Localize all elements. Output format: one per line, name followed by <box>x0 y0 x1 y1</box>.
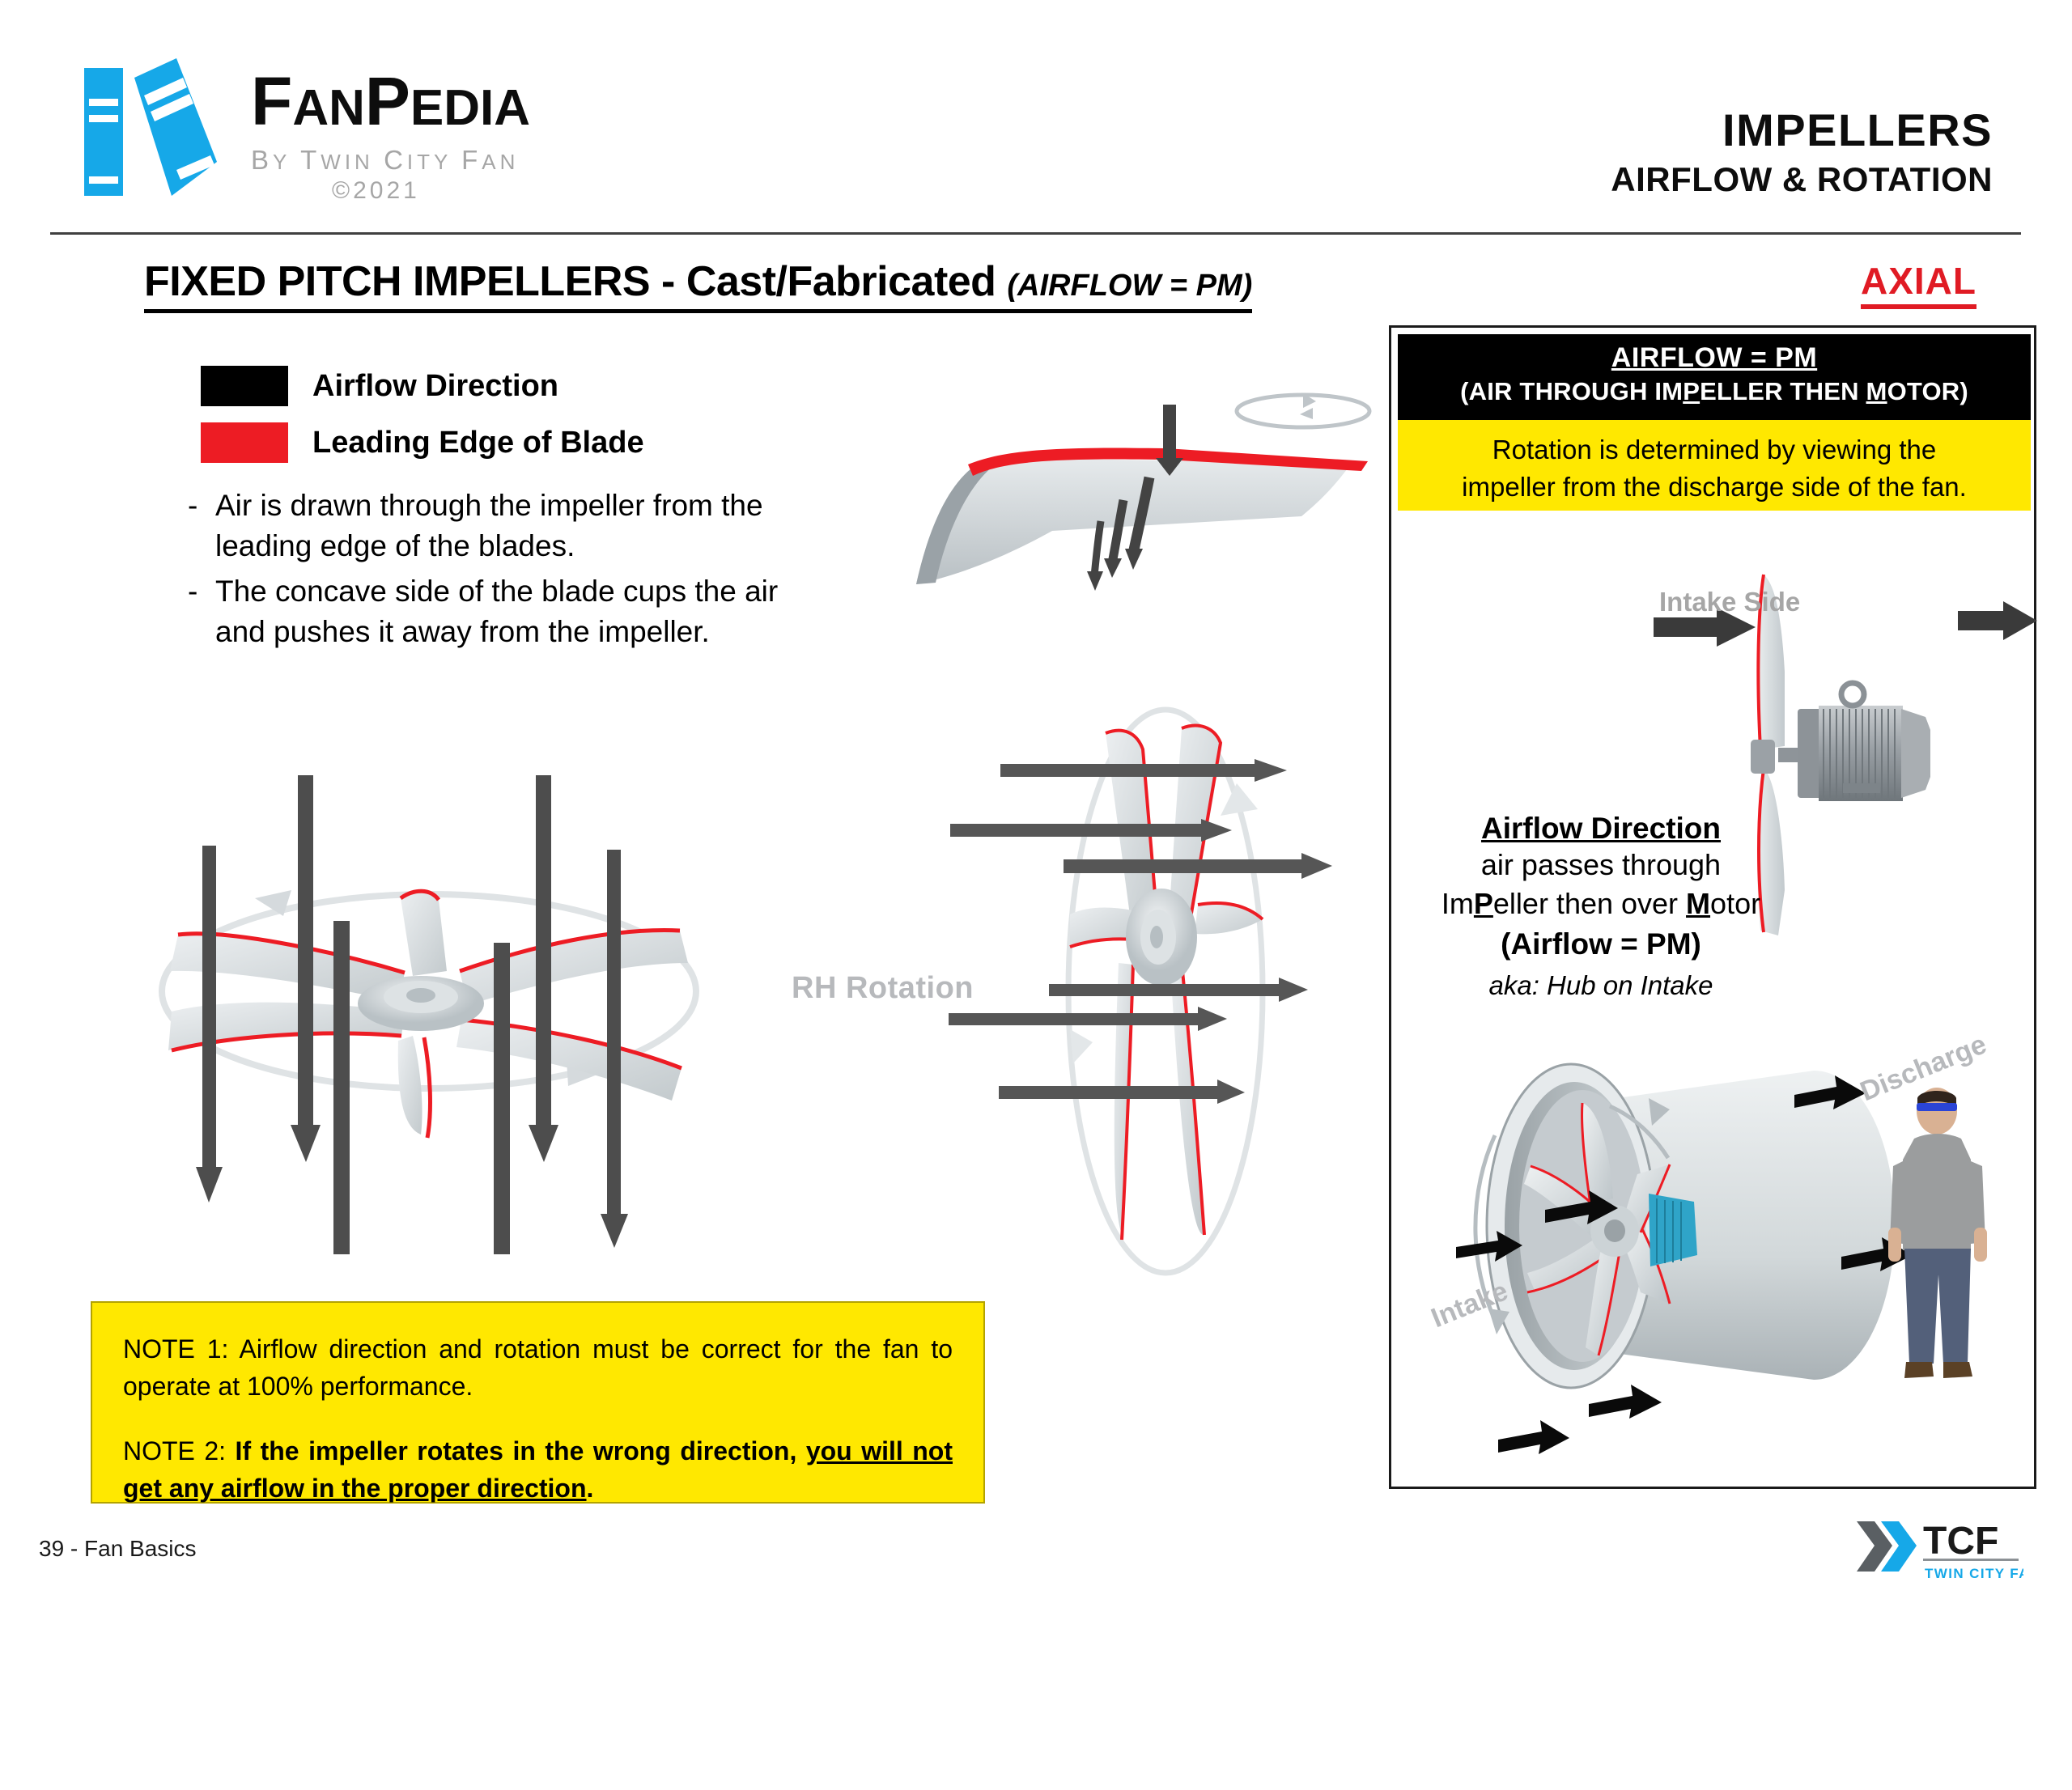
pm-sub-m: M <box>1866 377 1887 405</box>
impeller-top-view-diagram <box>81 769 777 1254</box>
airflow-direction-title: Airflow Direction <box>1427 812 1775 846</box>
pm-sub-a: (AIR THROUGH IM <box>1460 377 1683 405</box>
motor-endbell <box>1901 709 1930 798</box>
note-1: NOTE 1: Airflow direction and rotation m… <box>123 1330 953 1405</box>
page-subtitle: AIRFLOW & ROTATION <box>1611 159 1993 201</box>
pm-sub-c: OTOR) <box>1887 377 1968 405</box>
rotation-rule-yellow-banner: Rotation is determined by viewing the im… <box>1398 420 2031 511</box>
fanpedia-text: FANPEDIA <box>251 66 530 143</box>
page-title: IMPELLERS <box>1611 105 1993 155</box>
bullet-item: - The concave side of the blade cups the… <box>188 571 787 652</box>
person-jeans <box>1904 1249 1971 1364</box>
safety-glasses-icon <box>1917 1103 1957 1111</box>
tag-t: T <box>300 145 321 175</box>
fanpedia-logo: FANPEDIA BY TWIN CITY FAN ©2021 <box>81 57 664 210</box>
ab-m: M <box>1686 887 1710 920</box>
ab-otor: otor <box>1710 887 1760 920</box>
rotation-arrow-right <box>1300 408 1313 419</box>
rh-rotation-label: RH Rotation <box>792 971 974 1006</box>
legend: Airflow Direction Leading Edge of Blade <box>201 366 644 479</box>
rotation-arrow-up <box>1221 783 1258 816</box>
ab-im: Im <box>1441 887 1474 920</box>
rotation-arrow-down <box>1070 1029 1093 1063</box>
person-shoe-right <box>1943 1362 1972 1378</box>
note-2-end: . <box>587 1474 594 1503</box>
pm-sub-b: ELLER THEN <box>1700 377 1866 405</box>
fanpedia-f: F <box>251 63 292 139</box>
page-header: FANPEDIA BY TWIN CITY FAN ©2021 IMPELLER… <box>0 0 2072 235</box>
bullet-dash: - <box>188 486 215 566</box>
fanpedia-tagline: BY TWIN CITY FAN <box>251 145 530 176</box>
airflow-direction-line5: aka: Hub on Intake <box>1427 965 1775 1006</box>
legend-label-airflow: Airflow Direction <box>312 369 558 404</box>
person-shoe-left <box>1904 1362 1934 1378</box>
impeller-side-view-diagram <box>931 680 1433 1295</box>
bullet-dash: - <box>188 571 215 652</box>
tcf-logo-subtext: TWIN CITY FAN <box>1925 1566 2023 1581</box>
blade <box>401 891 447 976</box>
copyright-text: ©2021 <box>332 177 530 205</box>
hub-bore <box>1604 1219 1625 1242</box>
red-swatch <box>201 422 288 463</box>
bullet-list: - Air is drawn through the impeller from… <box>188 486 787 657</box>
airflow-direction-line3: ImPeller then over Motor <box>1427 884 1775 923</box>
axial-right-panel: AIRFLOW = PM (AIR THROUGH IMPELLER THEN … <box>1389 325 2036 1489</box>
person-hand-right <box>1974 1228 1987 1262</box>
legend-label-leading-edge: Leading Edge of Blade <box>312 426 644 460</box>
rotation-rule-line-1: Rotation is determined by viewing the <box>1398 431 2031 469</box>
intake-side-label: Intake Side <box>1659 587 1800 617</box>
legend-item-leading-edge: Leading Edge of Blade <box>201 422 644 463</box>
note-2-label: NOTE 2: <box>123 1436 236 1466</box>
tag-win: WIN <box>321 150 384 174</box>
pm-sub-p: P <box>1683 377 1700 405</box>
airflow-direction-block: Airflow Direction air passes through ImP… <box>1427 812 1775 1006</box>
tag-b: B <box>251 145 273 175</box>
motor-impeller-assembly <box>1739 566 2031 963</box>
section-heading-sub: (AIRFLOW = PM) <box>1007 269 1252 303</box>
note-1-label: NOTE 1: <box>123 1334 240 1364</box>
hub-bore <box>406 988 435 1003</box>
intake-arrow-icon <box>1498 1420 1569 1454</box>
ab-p: P <box>1474 887 1493 920</box>
header-divider <box>50 232 2021 235</box>
blade <box>1195 903 1263 934</box>
note-2: NOTE 2: If the impeller rotates in the w… <box>123 1432 953 1507</box>
rotation-rule-line-2: impeller from the discharge side of the … <box>1398 469 2031 506</box>
tag-f: F <box>461 145 482 175</box>
bullet-text: The concave side of the blade cups the a… <box>215 571 787 652</box>
intake-arrow-icon <box>1589 1385 1662 1419</box>
note-box: NOTE 1: Airflow direction and rotation m… <box>91 1301 985 1504</box>
fanpedia-an: AN <box>292 80 365 136</box>
tcf-logo: TCF TWIN CITY FAN <box>1853 1510 2023 1583</box>
tag-c: C <box>384 145 407 175</box>
tcf-logo-rule <box>1923 1559 2019 1561</box>
hub <box>1751 740 1775 774</box>
person-hand-left <box>1888 1228 1901 1262</box>
section-heading-main: FIXED PITCH IMPELLERS - Cast/Fabricated <box>144 258 1007 305</box>
motor-foot-left <box>1798 709 1822 798</box>
blade-cross-section-diagram <box>898 380 1400 615</box>
bullet-text: Air is drawn through the impeller from t… <box>215 486 787 566</box>
airflow-pm-title: AIRFLOW = PM <box>1398 342 2031 374</box>
note-1-text: Airflow direction and rotation must be c… <box>123 1334 953 1401</box>
legend-item-airflow: Airflow Direction <box>201 366 644 406</box>
airflow-direction-line4: (Airflow = PM) <box>1427 923 1775 965</box>
airflow-pm-black-banner: AIRFLOW = PM (AIR THROUGH IMPELLER THEN … <box>1398 334 2031 420</box>
fanpedia-p: P <box>365 63 410 139</box>
tag-y: Y <box>273 150 300 174</box>
airflow-direction-line2: air passes through <box>1427 846 1775 884</box>
section-heading: FIXED PITCH IMPELLERS - Cast/Fabricated … <box>144 257 1252 313</box>
tag-an: AN <box>482 150 519 174</box>
blade <box>398 1036 422 1135</box>
bullet-item: - Air is drawn through the impeller from… <box>188 486 787 566</box>
hub-bore <box>1150 926 1163 948</box>
conduit-box <box>1843 783 1880 793</box>
header-titles: IMPELLERS AIRFLOW & ROTATION <box>1611 105 1993 201</box>
black-swatch <box>201 366 288 406</box>
books-icon <box>81 57 235 198</box>
note-2-bold: If the impeller rotates in the wrong dir… <box>236 1436 806 1466</box>
tcf-logo-text: TCF <box>1923 1520 1998 1563</box>
axial-badge: AXIAL <box>1861 259 1976 309</box>
ab-eller: eller then over <box>1493 887 1686 920</box>
fanpedia-edia: EDIA <box>410 80 530 136</box>
fanpedia-wordmark: FANPEDIA BY TWIN CITY FAN ©2021 <box>251 66 530 205</box>
lifting-eye <box>1841 683 1864 706</box>
person-figure <box>1888 1088 1987 1378</box>
page-number-label: 39 - Fan Basics <box>39 1536 197 1562</box>
tag-ity: ITY <box>407 150 461 174</box>
person-shirt <box>1903 1134 1971 1250</box>
airflow-pm-subtitle: (AIR THROUGH IMPELLER THEN MOTOR) <box>1398 377 2031 406</box>
blade <box>1170 963 1204 1235</box>
